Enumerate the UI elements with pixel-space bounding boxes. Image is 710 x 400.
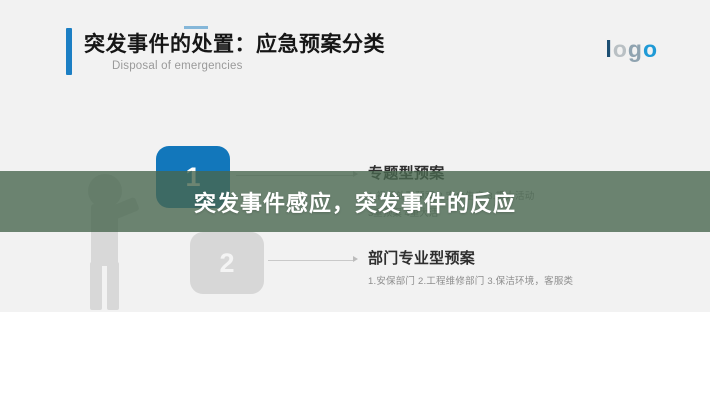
title-accent-bar — [66, 28, 72, 75]
page-subtitle: Disposal of emergencies — [112, 60, 243, 72]
logo-char-1: l — [605, 36, 612, 62]
logo-char-3: g — [628, 36, 643, 62]
connector-line-2 — [268, 260, 354, 261]
presentation-slide: 突发事件的处置：应急预案分类 Disposal of emergencies l… — [0, 0, 710, 312]
logo-char-2: o — [613, 36, 628, 62]
list-item: 部门专业型预案 1.安保部门 2.工程维修部门 3.保洁环境，客服类 — [368, 247, 573, 287]
arrow-icon-2 — [353, 256, 358, 262]
list-item-title: 部门专业型预案 — [368, 247, 573, 268]
page-title: 突发事件的处置：应急预案分类 — [84, 28, 385, 58]
overlay-banner-text: 突发事件感应，突发事件的反应 — [194, 186, 516, 218]
person-leg-right — [107, 262, 119, 310]
overlay-banner: 突发事件感应，突发事件的反应 — [0, 171, 710, 232]
step-card-2: 2 — [190, 232, 264, 294]
person-leg-left — [90, 262, 102, 310]
list-item-subtitle: 1.安保部门 2.工程维修部门 3.保洁环境，客服类 — [368, 273, 573, 287]
logo-char-4: o — [643, 36, 658, 62]
screenshot-root: 突发事件的处置：应急预案分类 Disposal of emergencies l… — [0, 0, 710, 400]
logo: logo — [605, 38, 658, 61]
